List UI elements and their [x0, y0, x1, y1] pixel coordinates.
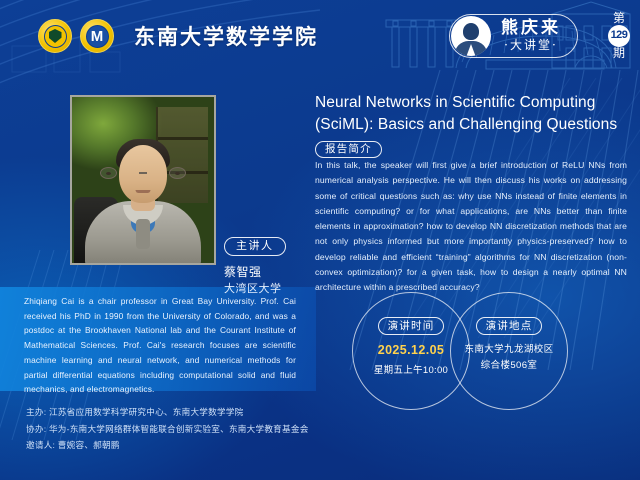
- abstract-label: 报告简介: [315, 141, 382, 159]
- issue-suffix: 期: [613, 47, 625, 60]
- organizer-footer: 主办: 江苏省应用数学科学研究中心、东南大学数学学院 协办: 华为-东南大学网络…: [26, 404, 426, 454]
- footer-coorganizers: 协办: 华为-东南大学网络群体智能联合创新实验室、东南大学教育基金会: [26, 421, 426, 438]
- seu-emblem-icon: [38, 19, 72, 53]
- logo-group: M 东南大学数学学院: [38, 19, 318, 53]
- issue-indicator: 第 129 期: [608, 12, 630, 59]
- speaker-label: 主讲人: [224, 237, 286, 256]
- lecture-series-badge: 熊庆来 ·大讲堂·: [449, 14, 578, 58]
- footer-organizers: 主办: 江苏省应用数学科学研究中心、东南大学数学学院: [26, 404, 426, 421]
- talk-venue-line2: 综合楼506室: [481, 358, 538, 374]
- issue-prefix: 第: [613, 12, 625, 25]
- issue-number: 129: [608, 25, 630, 47]
- math-school-emblem-icon: M: [80, 19, 114, 53]
- footer-invitees: 邀请人: 曹婉容、郝朝鹏: [26, 437, 426, 454]
- university-name: 东南大学数学学院: [134, 21, 318, 51]
- speaker-info: 主讲人 蔡智强 大湾区大学: [224, 236, 310, 298]
- speaker-name: 蔡智强: [224, 263, 310, 281]
- speaker-photo: [70, 95, 216, 265]
- series-subtitle: ·大讲堂·: [504, 39, 558, 52]
- talk-venue-line1: 东南大学九龙湖校区: [464, 342, 553, 358]
- abstract-label-wrap: 报告简介: [315, 139, 382, 158]
- talk-place-circle: 演讲地点 东南大学九龙湖校区 综合楼506室: [450, 292, 568, 410]
- talk-date: 2025.12.05: [378, 343, 445, 357]
- poster-canvas: M 东南大学数学学院 熊庆来 ·大讲堂· 第 129 期: [0, 0, 640, 480]
- speaker-bio-text: Zhiqiang Cai is a chair professor in Gre…: [24, 294, 296, 397]
- talk-weekday-time: 星期五上午10:00: [374, 362, 448, 376]
- talk-title: Neural Networks in Scientific Computing …: [315, 92, 627, 137]
- poster-header: M 东南大学数学学院 熊庆来 ·大讲堂· 第 129 期: [0, 0, 640, 72]
- place-label: 演讲地点: [476, 317, 543, 335]
- xiong-qinglai-portrait-icon: [451, 16, 491, 56]
- talk-abstract: In this talk, the speaker will first giv…: [315, 158, 627, 296]
- time-label: 演讲时间: [378, 317, 445, 335]
- series-title: 熊庆来: [501, 20, 561, 38]
